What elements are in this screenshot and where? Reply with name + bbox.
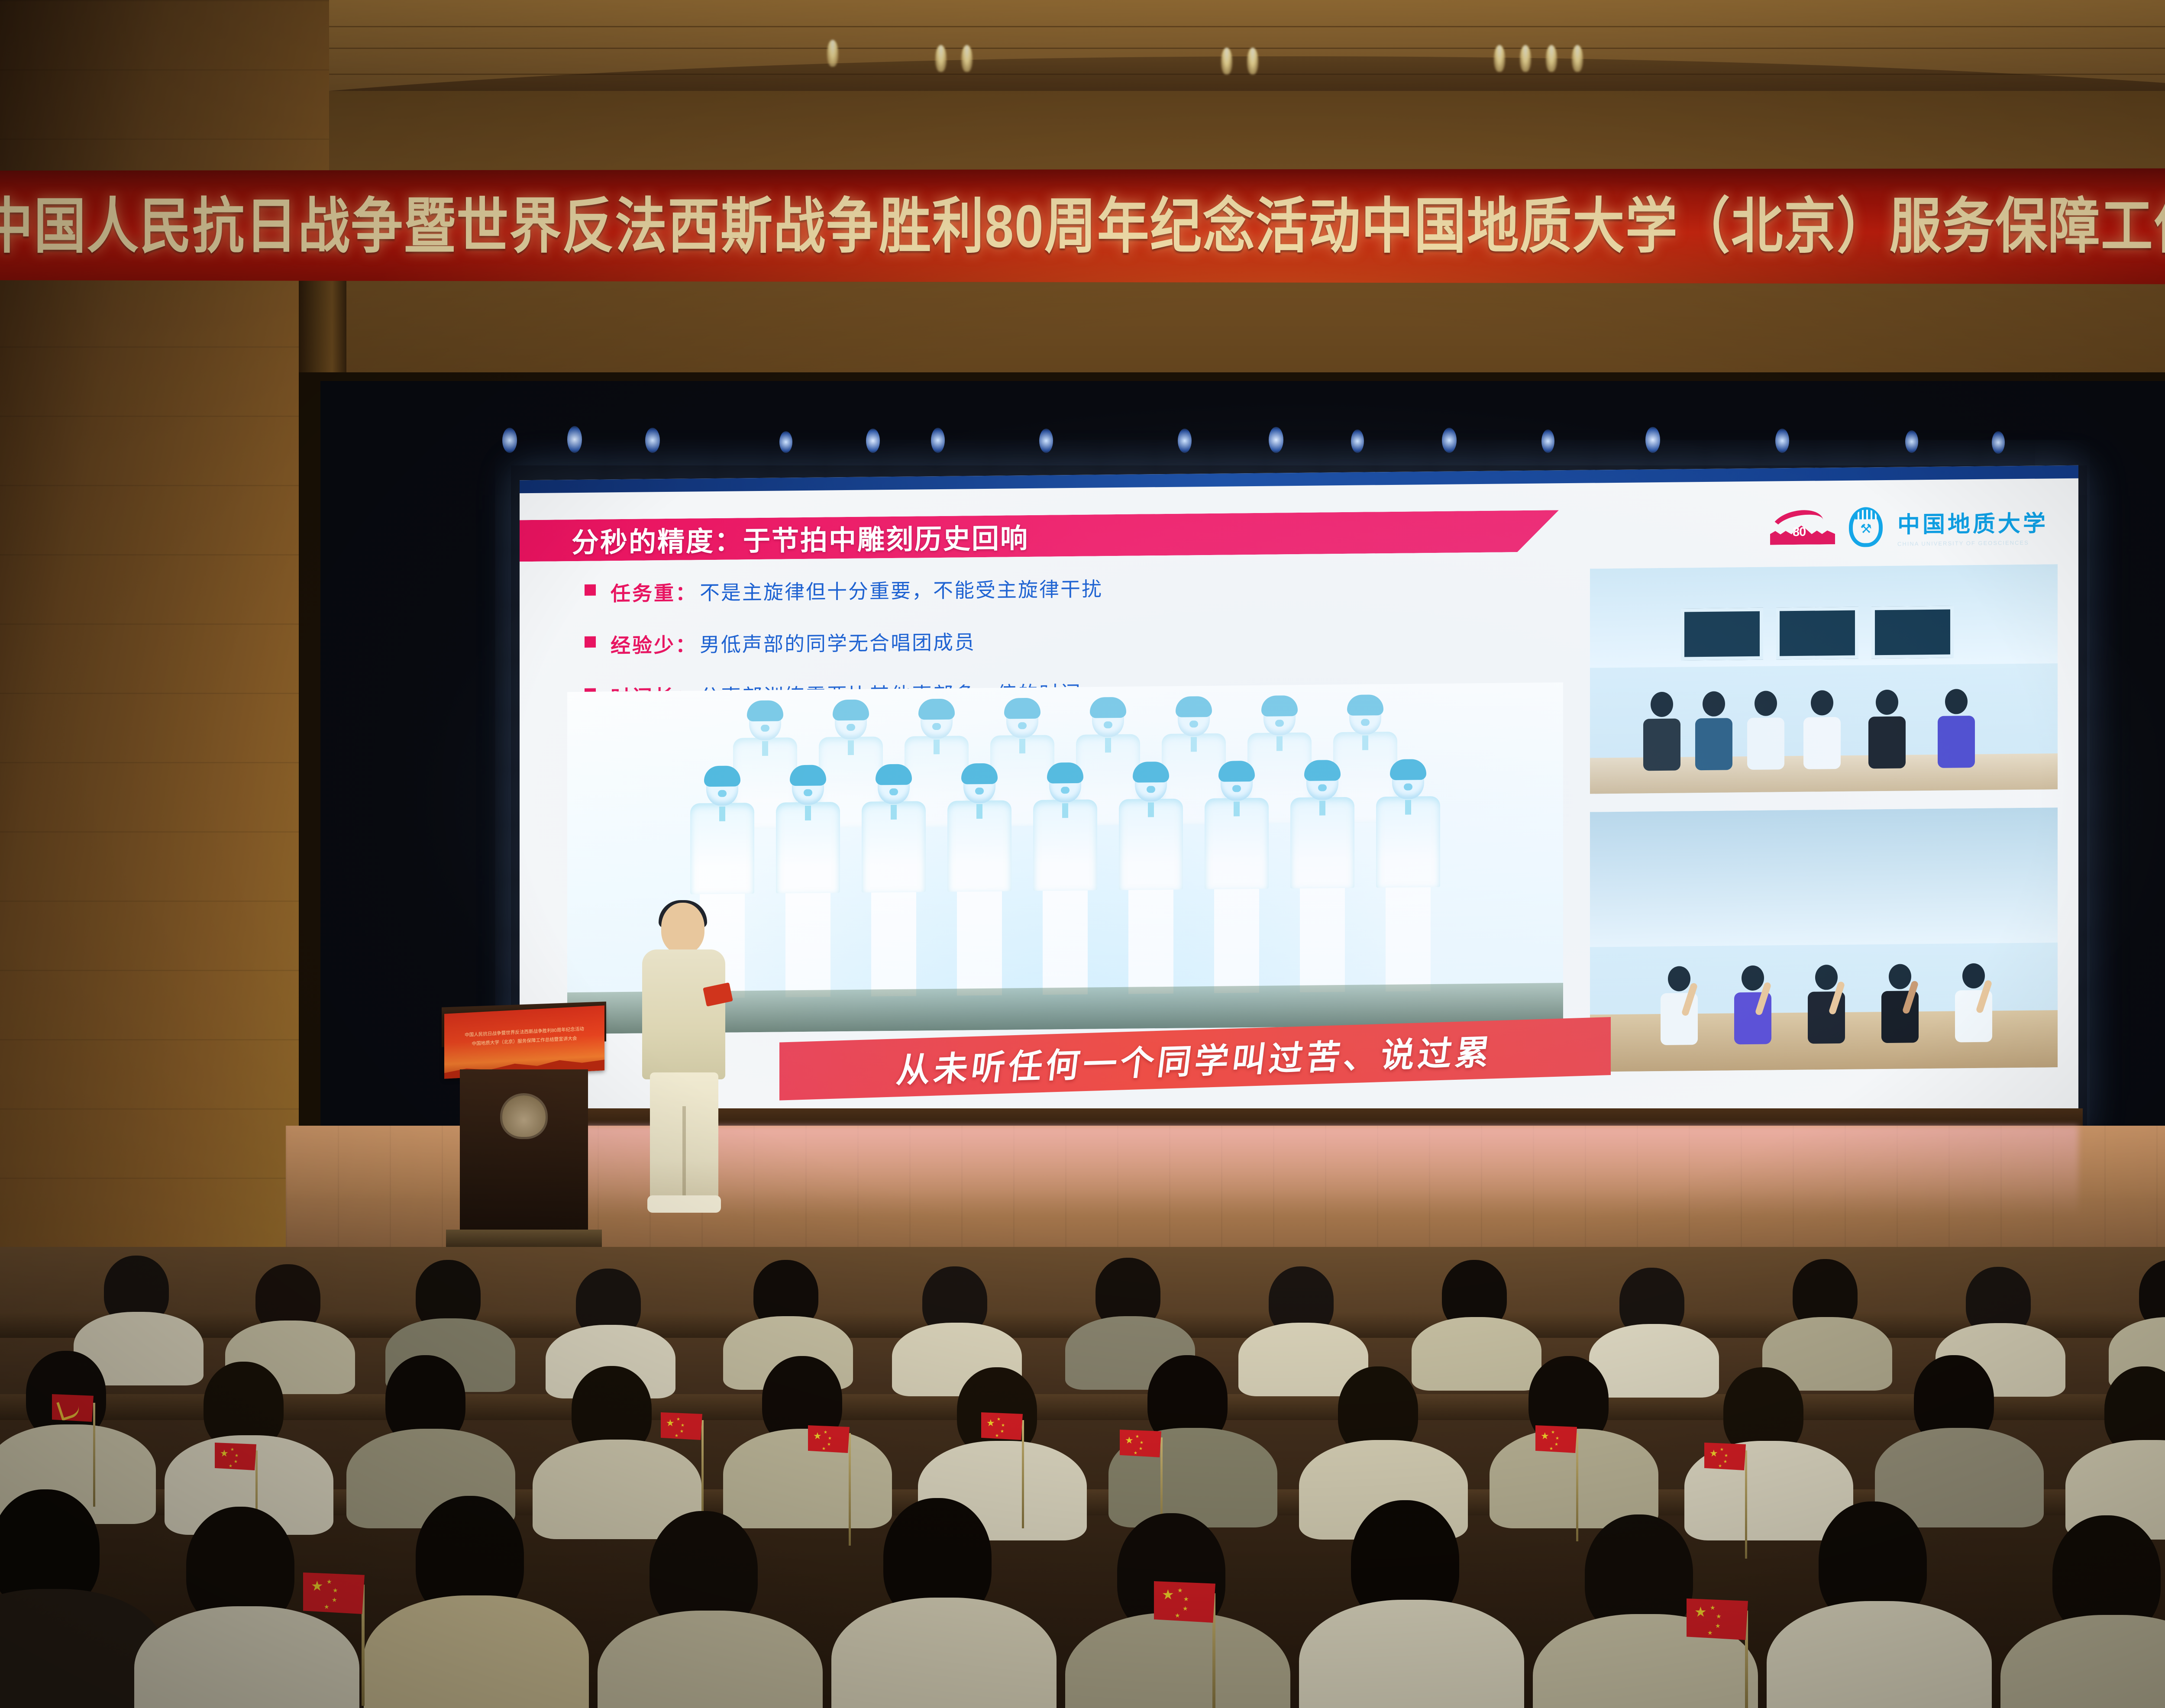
- choir-member: [776, 767, 840, 997]
- list-item: 经验少： 男低声部的同学无合唱团成员: [585, 621, 1550, 659]
- audience-shoulder: [723, 1429, 892, 1528]
- flag-star-icon: ★: [1162, 1590, 1174, 1599]
- stage-light: [1645, 427, 1660, 453]
- flag-star-icon: ★: [1135, 1432, 1139, 1442]
- slide-title-bar: 分秒的精度：于节拍中雕刻历史回响: [520, 510, 1559, 562]
- photo-window: [1681, 607, 1763, 660]
- ceiling-spotlight: [1520, 45, 1531, 72]
- audience-shoulder: [1589, 1324, 1719, 1398]
- national-flag: ★ ★ ★ ★ ★: [981, 1412, 1023, 1440]
- lectern-placard: 中国人民抗日战争暨世界反法西斯战争胜利80周年纪念活动 中国地质大学（北京）服务…: [444, 1005, 604, 1078]
- audience-shoulder: [1412, 1317, 1541, 1391]
- flag-star-icon: ★: [827, 1440, 831, 1450]
- photo-person: [1746, 691, 1786, 770]
- ceiling-spotlight: [1494, 45, 1505, 72]
- hammer-sickle-icon: [56, 1397, 81, 1421]
- photo-window: [1871, 606, 1954, 659]
- photo-person-raised-hand: [1659, 966, 1699, 1045]
- national-flag: ★ ★ ★ ★ ★: [1154, 1581, 1215, 1623]
- choir-member: [1204, 763, 1269, 993]
- stage-light: [1442, 428, 1457, 453]
- slide-caption: 从未听任何一个同学叫过苦、说过累: [894, 1025, 1496, 1092]
- stage-light: [1905, 430, 1918, 453]
- flag-star-icon: ★: [680, 1427, 684, 1437]
- flag-star-icon: ★: [1000, 1427, 1004, 1437]
- photo-person: [1867, 690, 1907, 769]
- flag-star-icon: ★: [824, 1428, 827, 1437]
- ceiling-spotlight: [961, 45, 973, 72]
- ceiling-spotlight: [1247, 48, 1258, 74]
- presenter-head: [661, 903, 704, 954]
- flag-star-icon: ★: [1175, 1611, 1180, 1620]
- flag-pole: [1022, 1420, 1024, 1528]
- seat-back-row: [0, 1394, 2165, 1420]
- flag-pole: [849, 1433, 851, 1546]
- choir-member: [1033, 765, 1098, 994]
- flag-star-icon: ★: [813, 1431, 822, 1441]
- national-flag: ★ ★ ★ ★ ★: [215, 1443, 256, 1470]
- university-shield-icon: ⚒: [1846, 505, 1886, 549]
- flag-star-icon: ★: [1183, 1594, 1189, 1604]
- stage-light: [1992, 431, 2005, 454]
- flag-star-icon: ★: [332, 1595, 337, 1605]
- national-flag: ★ ★ ★ ★ ★: [1704, 1443, 1746, 1470]
- photo-wall: [1590, 807, 2058, 947]
- university-wordmark: 中国地质大学 CHINA UNIVERSITY OF GEOSCIENCES: [1897, 505, 2048, 547]
- choir-member: [861, 766, 926, 996]
- ceiling-spotlight: [1546, 45, 1557, 72]
- ceiling-spotlight: [935, 45, 947, 72]
- stage-reflection: [520, 1126, 2078, 1217]
- photo-window: [1776, 607, 1858, 659]
- flag-star-icon: ★: [230, 1445, 234, 1455]
- ceiling-spotlight: [1221, 48, 1232, 74]
- flag-star-icon: ★: [666, 1418, 675, 1428]
- flag-star-icon: ★: [1720, 1445, 1724, 1455]
- bullet-lead: 经验少：: [611, 629, 697, 659]
- presenter-leg-shadow: [682, 1106, 686, 1198]
- lectern-body: [460, 1069, 588, 1234]
- national-flag: ★ ★ ★ ★ ★: [1687, 1598, 1748, 1640]
- flag-star-icon: ★: [676, 1415, 680, 1424]
- photo-person-raised-hand: [1880, 964, 1920, 1043]
- flag-star-icon: ★: [1707, 1628, 1713, 1637]
- flag-star-icon: ★: [1694, 1607, 1707, 1617]
- lectern[interactable]: 中国人民抗日战争暨世界反法西斯战争胜利80周年纪念活动 中国地质大学（北京）服务…: [442, 1004, 606, 1256]
- university-name-en: CHINA UNIVERSITY OF GEOSCIENCES: [1897, 539, 2048, 547]
- flag-star-icon: ★: [1710, 1603, 1716, 1612]
- flag-star-icon: ★: [1554, 1440, 1558, 1450]
- lectern-emblem-icon: [502, 1095, 546, 1137]
- slide-title: 分秒的精度：于节拍中雕刻历史回响: [572, 516, 1029, 560]
- flag-star-icon: ★: [333, 1585, 338, 1595]
- stage-light: [1775, 429, 1789, 453]
- photo-person: [1694, 691, 1734, 770]
- stage-light: [1351, 429, 1364, 453]
- national-flag: ★ ★ ★ ★ ★: [1535, 1425, 1577, 1453]
- choir-member: [1376, 762, 1441, 991]
- national-flag: ★ ★ ★ ★ ★: [661, 1412, 702, 1440]
- audience-shoulder: [1767, 1601, 1992, 1708]
- photo-person: [1802, 690, 1842, 769]
- ceiling-spotlight: [827, 40, 838, 67]
- flag-star-icon: ★: [1709, 1449, 1718, 1458]
- ceiling-spotlight: [1572, 45, 1583, 72]
- presenter: [630, 903, 738, 1214]
- flag-pole: [1576, 1433, 1578, 1541]
- national-flag: ★ ★ ★ ★ ★: [303, 1572, 365, 1614]
- auditorium-scene: 中国人民抗日战争暨世界反法西斯战争胜利80周年纪念活动中国地质大学（北京）服务保…: [0, 0, 2165, 1708]
- anniversary-number: 80: [1793, 525, 1806, 539]
- event-banner-text: 中国人民抗日战争暨世界反法西斯战争胜利80周年纪念活动中国地质大学（北京）服务保…: [0, 196, 2165, 256]
- bullet-lead: 任务重：: [611, 577, 697, 607]
- university-name: 中国地质大学: [1897, 505, 2048, 539]
- presenter-shirt: [642, 949, 725, 1079]
- stage-light-bar: [476, 416, 2122, 463]
- flag-star-icon: ★: [1541, 1431, 1549, 1441]
- rehearsal-photo-seated: [1590, 564, 2058, 794]
- stage-light: [866, 429, 880, 453]
- presentation-slide[interactable]: 分秒的精度：于节拍中雕刻历史回响 80 ⚒ 中国地质大学 CHINA UNIVE…: [520, 465, 2078, 1140]
- list-item: 任务重： 不是主旋律但十分重要，不能受主旋律干扰: [585, 569, 1550, 607]
- flag-star-icon: ★: [326, 1577, 332, 1586]
- photo-person-raised-hand: [1733, 965, 1773, 1044]
- bullet-body: 男低声部的同学无合唱团成员: [700, 626, 976, 658]
- stage-light: [1541, 429, 1554, 453]
- flag-star-icon: ★: [311, 1581, 323, 1591]
- photo-person: [1936, 689, 1976, 768]
- slide-logo-group: 80 ⚒ 中国地质大学 CHINA UNIVERSITY OF GEOSCIEN…: [1770, 503, 2048, 550]
- choir-member: [947, 765, 1012, 995]
- audience-shoulder: [364, 1595, 589, 1708]
- stage-light: [502, 428, 517, 453]
- choir-member: [1118, 764, 1183, 994]
- choir-member: [1290, 762, 1355, 992]
- flag-pole: [93, 1403, 95, 1507]
- stage-light: [645, 428, 660, 453]
- flag-star-icon: ★: [1139, 1444, 1143, 1454]
- flag-star-icon: ★: [1183, 1604, 1188, 1613]
- flag-star-icon: ★: [1125, 1436, 1134, 1445]
- bullet-square-icon: [585, 584, 596, 596]
- flag-star-icon: ★: [1177, 1585, 1183, 1595]
- stage-light: [567, 426, 582, 453]
- flag-star-icon: ★: [1716, 1611, 1722, 1621]
- stage-light: [779, 431, 792, 453]
- geology-hammer-icon: ⚒: [1860, 523, 1872, 536]
- photo-person: [1642, 692, 1682, 771]
- stage-light: [1269, 427, 1283, 453]
- photo-person-raised-hand: [1806, 965, 1846, 1044]
- flag-star-icon: ★: [220, 1449, 229, 1458]
- photo-person-raised-hand: [1954, 963, 1994, 1043]
- flag-star-icon: ★: [986, 1418, 995, 1428]
- bullet-body: 不是主旋律但十分重要，不能受主旋律干扰: [700, 573, 1103, 606]
- stage-light: [931, 428, 945, 453]
- flag-star-icon: ★: [1723, 1457, 1727, 1467]
- flag-star-icon: ★: [234, 1457, 238, 1467]
- presenter-shoes: [647, 1195, 721, 1213]
- flag-star-icon: ★: [1715, 1621, 1721, 1631]
- national-flag: ★ ★ ★ ★ ★: [808, 1425, 850, 1453]
- rehearsal-photo-standing: [1590, 807, 2058, 1072]
- flag-star-icon: ★: [1551, 1428, 1555, 1437]
- event-banner: 中国人民抗日战争暨世界反法西斯战争胜利80周年纪念活动中国地质大学（北京）服务保…: [0, 168, 2165, 285]
- stage-light: [1178, 429, 1192, 453]
- flag-star-icon: ★: [997, 1415, 1001, 1424]
- flag-pole: [1745, 1450, 1747, 1559]
- anniversary-80-icon: 80: [1770, 508, 1835, 547]
- audience-shoulder: [831, 1598, 1057, 1708]
- national-flag: ★ ★ ★ ★ ★: [1120, 1430, 1161, 1457]
- audience-seating: ★ ★ ★ ★ ★ ★ ★ ★ ★ ★ ★ ★ ★ ★ ★ ★ ★ ★ ★: [0, 1247, 2165, 1708]
- audience-shoulder: [1299, 1600, 1524, 1708]
- party-flag: [52, 1394, 94, 1422]
- flag-star-icon: ★: [324, 1602, 330, 1611]
- stage-light: [1039, 429, 1053, 453]
- bullet-square-icon: [585, 636, 596, 648]
